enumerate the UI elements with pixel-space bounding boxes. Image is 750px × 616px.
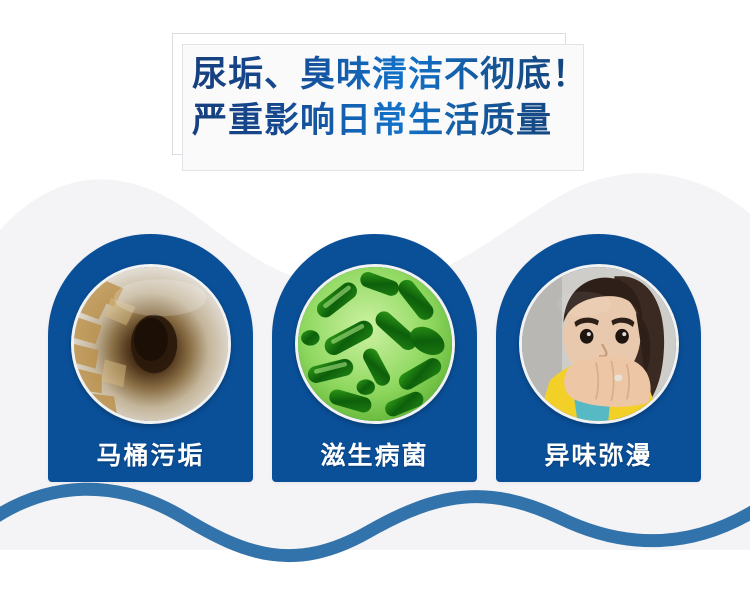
headline-line-1: 尿垢、臭味清洁不彻底！ bbox=[192, 52, 592, 98]
promo-banner: 尿垢、臭味清洁不彻底！ 严重影响日常生活质量 bbox=[0, 0, 750, 616]
card-label-bacteria: 滋生病菌 bbox=[272, 436, 477, 472]
problem-card-list: 马桶污垢 bbox=[0, 234, 750, 484]
green-bacteria-microscope-photo bbox=[295, 264, 455, 424]
problem-card-bacteria[interactable]: 滋生病菌 bbox=[272, 234, 477, 482]
problem-card-odor[interactable]: 异味弥漫 bbox=[496, 234, 701, 482]
problem-card-toilet-stains[interactable]: 马桶污垢 bbox=[48, 234, 253, 482]
toilet-bowl-stain-photo bbox=[71, 264, 231, 424]
bacteria-image bbox=[298, 267, 452, 421]
headline-block: 尿垢、臭味清洁不彻底！ 严重影响日常生活质量 bbox=[172, 33, 602, 183]
woman-covering-nose-photo bbox=[519, 264, 679, 424]
card-label-odor: 异味弥漫 bbox=[496, 436, 701, 472]
toilet-bowl-stain-image bbox=[74, 267, 228, 421]
headline-line-2: 严重影响日常生活质量 bbox=[192, 98, 592, 144]
woman-image bbox=[522, 267, 676, 421]
bottom-wave-divider bbox=[0, 470, 750, 590]
card-label-toilet-stains: 马桶污垢 bbox=[48, 436, 253, 472]
page-title: 尿垢、臭味清洁不彻底！ 严重影响日常生活质量 bbox=[192, 52, 592, 144]
